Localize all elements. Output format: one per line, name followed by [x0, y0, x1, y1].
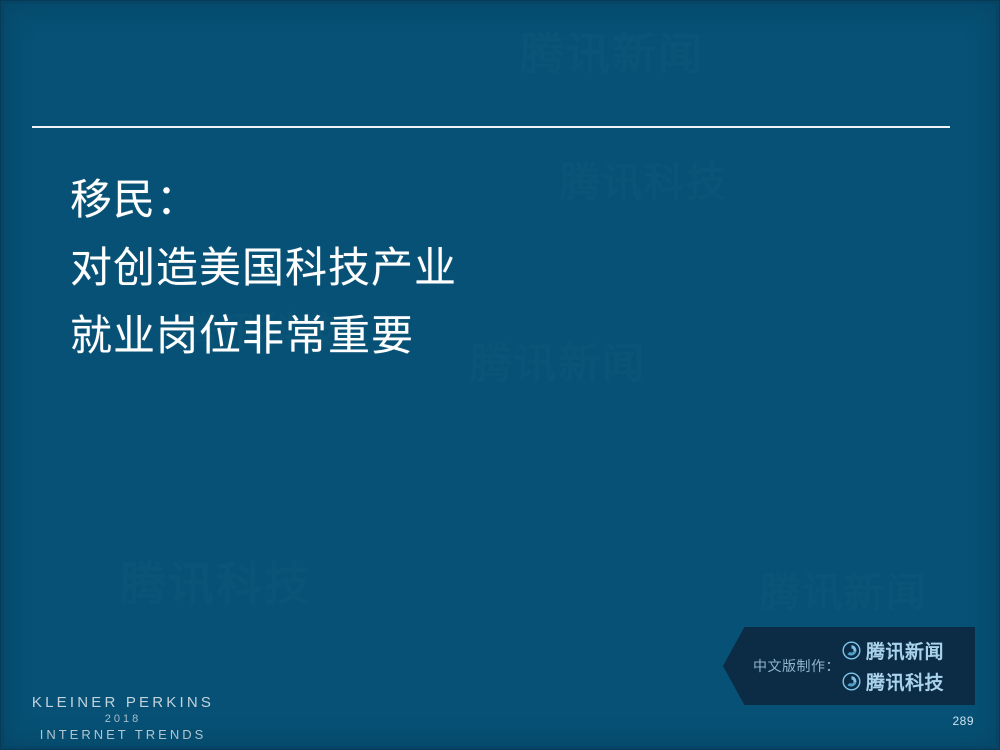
tencent-logo-icon [842, 641, 861, 660]
header-divider-rule [32, 126, 950, 128]
tencent-logo-icon [842, 672, 861, 691]
kleiner-perkins-logo: KLEINER PERKINS 2018 INTERNET TRENDS [18, 694, 228, 742]
banner-brand-row: 腾讯科技 [842, 668, 944, 695]
slide-title: 移民： 对创造美国科技产业 就业岗位非常重要 [70, 166, 457, 370]
background-watermark-text: 腾讯新闻 [470, 330, 646, 391]
slide-canvas: 腾讯新闻 腾讯科技 腾讯新闻 腾讯科技 腾讯新闻 腾讯科技 移民： 对创造美国科… [0, 0, 1000, 750]
banner-content: 中文版制作： 腾讯新闻 [723, 637, 975, 695]
tencent-attribution-banner: 中文版制作： 腾讯新闻 [723, 627, 975, 705]
banner-brand-label: 腾讯新闻 [866, 637, 944, 664]
banner-brand-label: 腾讯科技 [866, 668, 944, 695]
title-line-1: 移民： [70, 166, 457, 234]
background-watermark-text: 腾讯新闻 [520, 18, 704, 82]
logo-year: 2018 [18, 713, 228, 725]
banner-brand-row: 腾讯新闻 [842, 637, 944, 664]
background-watermark-text: 腾讯科技 [120, 548, 312, 614]
background-watermark-text: 腾讯科技 [560, 150, 728, 208]
banner-prefix-label: 中文版制作： [753, 656, 840, 676]
banner-brand-rows: 腾讯新闻 腾讯科技 [842, 637, 944, 695]
title-line-3: 就业岗位非常重要 [70, 302, 457, 370]
logo-report-name: INTERNET TRENDS [18, 727, 228, 742]
page-number: 289 [952, 714, 974, 728]
logo-firm-name: KLEINER PERKINS [18, 694, 228, 711]
background-watermark-text: 腾讯新闻 [760, 560, 928, 618]
title-line-2: 对创造美国科技产业 [70, 234, 457, 302]
